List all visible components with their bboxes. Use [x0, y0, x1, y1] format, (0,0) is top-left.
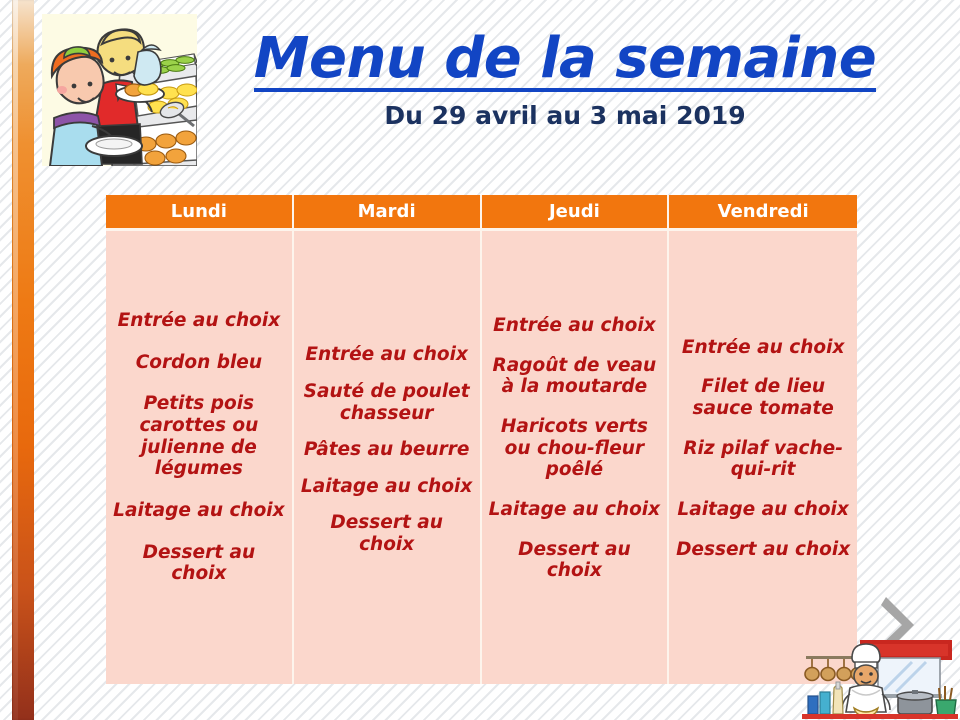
- dish-item: Riz pilaf vache-qui-rit: [675, 438, 851, 481]
- menu-cell-jeudi: Entrée au choix Ragoût de veau à la mout…: [482, 231, 670, 684]
- dish-item: Filet de lieu sauce tomate: [675, 376, 851, 419]
- dish-item: Dessert au choix: [675, 539, 851, 561]
- menu-cell-lundi: Entrée au choix Cordon bleu Petits pois …: [106, 231, 294, 684]
- column-header-lundi: Lundi: [106, 195, 294, 231]
- column-header-vendredi: Vendredi: [669, 195, 857, 231]
- slide-canvas: Menu de la semaine Du 29 avril au 3 mai …: [0, 0, 960, 720]
- dish-item: Ragoût de veau à la moutarde: [488, 355, 662, 398]
- dish-item: Laitage au choix: [488, 499, 662, 521]
- menu-cell-vendredi: Entrée au choix Filet de lieu sauce toma…: [669, 231, 857, 684]
- dish-item: Petits pois carottes ou julienne de légu…: [112, 393, 286, 480]
- table-row: Entrée au choix Cordon bleu Petits pois …: [106, 231, 857, 684]
- dish-item: Haricots verts ou chou-fleur poêlé: [488, 416, 662, 481]
- slide-header: Menu de la semaine Du 29 avril au 3 mai …: [40, 8, 920, 178]
- table-header-row: Lundi Mardi Jeudi Vendredi: [106, 195, 857, 231]
- chef-cooking-clipart: [800, 638, 958, 720]
- dish-item: Dessert au choix: [300, 512, 474, 555]
- left-accent-bar: [12, 0, 34, 720]
- title-block: Menu de la semaine Du 29 avril au 3 mai …: [215, 30, 915, 130]
- dish-item: Pâtes au beurre: [300, 439, 474, 461]
- school-canteen-serving-clipart: [42, 14, 197, 166]
- date-range-subtitle: Du 29 avril au 3 mai 2019: [215, 101, 915, 130]
- dish-item: Laitage au choix: [300, 476, 474, 498]
- menu-cell-mardi: Entrée au choix Sauté de poulet chasseur…: [294, 231, 482, 684]
- dish-item: Cordon bleu: [112, 352, 286, 374]
- dish-item: Laitage au choix: [675, 499, 851, 521]
- dish-item: Sauté de poulet chasseur: [300, 381, 474, 424]
- dish-item: Entrée au choix: [300, 344, 474, 366]
- page-title: Menu de la semaine: [254, 30, 876, 92]
- column-header-jeudi: Jeudi: [482, 195, 670, 231]
- dish-item: Dessert au choix: [112, 542, 286, 585]
- dish-item: Laitage au choix: [112, 500, 286, 522]
- dish-item: Entrée au choix: [112, 310, 286, 332]
- weekly-menu-table: Lundi Mardi Jeudi Vendredi Entrée au cho…: [106, 195, 857, 684]
- column-header-mardi: Mardi: [294, 195, 482, 231]
- dish-item: Entrée au choix: [488, 315, 662, 337]
- dish-item: Entrée au choix: [675, 337, 851, 359]
- dish-item: Dessert au choix: [488, 539, 662, 582]
